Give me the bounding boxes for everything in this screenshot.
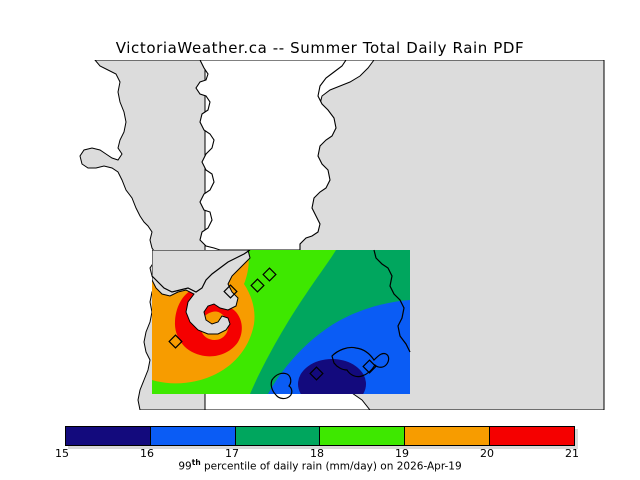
colorbar-segment-15-16[interactable]: [66, 427, 151, 445]
colorbar-segment-19-20[interactable]: [405, 427, 490, 445]
page-title: VictoriaWeather.ca -- Summer Total Daily…: [0, 39, 640, 57]
contour-data-layer: [152, 250, 410, 409]
colorbar-caption-text: percentile of daily rain (mm/day) on 202…: [201, 461, 462, 473]
weather-map[interactable]: [0, 60, 640, 410]
colorbar-segment-18-19[interactable]: [320, 427, 405, 445]
colorbar-caption-ordinal: th: [192, 458, 201, 467]
colorbar-caption: 99th percentile of daily rain (mm/day) o…: [0, 458, 640, 473]
page-root: VictoriaWeather.ca -- Summer Total Daily…: [0, 0, 640, 480]
colorbar-caption-number: 99: [178, 461, 191, 473]
colorbar-segment-16-17[interactable]: [151, 427, 236, 445]
colorbar-strip[interactable]: [65, 426, 575, 446]
colorbar-segment-20-21[interactable]: [490, 427, 574, 445]
map-panel[interactable]: [0, 60, 640, 410]
colorbar-segment-17-18[interactable]: [236, 427, 321, 445]
colorbar[interactable]: [65, 426, 575, 446]
